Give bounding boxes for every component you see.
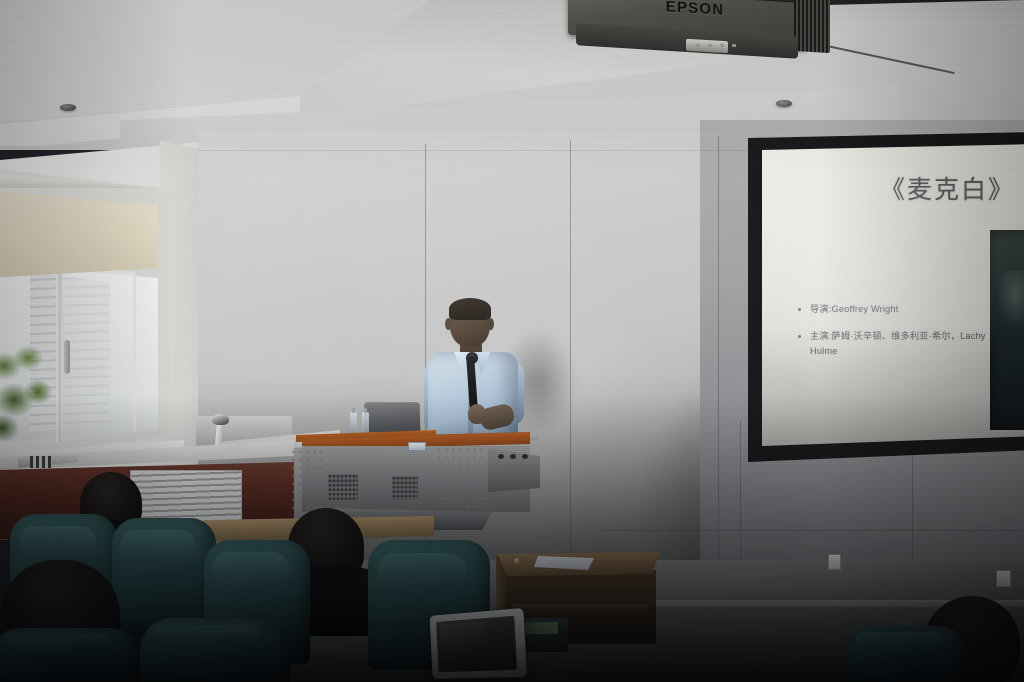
- desk-shelf: [512, 604, 648, 612]
- lectern-control-button[interactable]: [498, 454, 504, 459]
- projection-screen: 《麦克白》 导演:Geoffrey Wright 主演:萨姆·沃辛顿、维多利亚·…: [748, 132, 1024, 462]
- seat-highlight: [378, 553, 466, 587]
- lectern-laptop-screen[interactable]: [364, 402, 421, 432]
- wall-outlet-icon: [828, 554, 841, 570]
- seat-highlight: [152, 625, 260, 643]
- ceiling-light-icon: [776, 100, 792, 107]
- slide-bullet-list: 导演:Geoffrey Wright 主演:萨姆·沃辛顿、维多利亚·希尔，Lac…: [796, 302, 986, 371]
- presenter-hair: [449, 298, 491, 320]
- screen-surface: 《麦克白》 导演:Geoffrey Wright 主演:萨姆·沃辛顿、维多利亚·…: [762, 144, 1024, 446]
- seat-highlight: [19, 526, 97, 557]
- seat: [0, 628, 140, 682]
- slide-poster-image: [990, 230, 1024, 430]
- window-view-trees: [0, 344, 52, 440]
- lectern-label-tag: [408, 442, 426, 451]
- slide-bullet-cast: 主演:萨姆·沃辛顿、维多利亚·希尔，Lachy Hulme: [796, 329, 986, 358]
- seat-highlight: [2, 634, 110, 650]
- presenter-ear-right: [487, 318, 494, 330]
- window-sash[interactable]: [60, 264, 136, 440]
- foreground-laptop-screen-glare: [440, 621, 487, 665]
- ceiling-projector: EPSON: [568, 0, 826, 58]
- seat-highlight: [212, 552, 288, 584]
- foreground-laptop[interactable]: [428, 612, 536, 682]
- seat-highlight: [856, 632, 942, 648]
- seat: [846, 626, 966, 682]
- projector-led: [708, 44, 712, 47]
- lecture-hall-photo: EPSON 《麦克白》: [0, 0, 1024, 682]
- window-handle-icon[interactable]: [64, 340, 70, 374]
- lectern-speaker-grille: [328, 474, 358, 500]
- wall-panel-seam: [718, 136, 719, 566]
- window: [0, 168, 174, 468]
- seat: [140, 618, 290, 682]
- projector-led: [696, 44, 700, 47]
- slide-bullet-director: 导演:Geoffrey Wright: [796, 302, 986, 316]
- slide-title: 《麦克白》: [880, 170, 1024, 206]
- lectern-control-button[interactable]: [510, 454, 516, 459]
- water-bottle: [362, 412, 369, 434]
- projector-led: [732, 44, 736, 47]
- sill-object-small: [30, 456, 52, 468]
- seat-highlight: [120, 530, 195, 561]
- lectern-speaker-grille: [392, 476, 418, 500]
- wall-panel-seam-horizontal: [198, 150, 818, 151]
- wall-outlet-icon: [996, 570, 1011, 587]
- desk-knob-icon: [514, 558, 520, 564]
- wall-panel-seam: [740, 420, 741, 572]
- projector-led: [720, 44, 724, 47]
- lectern-control-button[interactable]: [522, 454, 528, 459]
- ceiling-light-icon: [60, 104, 76, 111]
- window-mullion: [56, 262, 61, 442]
- projector-vent-icon: [794, 0, 830, 53]
- wall-panel-seam-horizontal: [600, 530, 1024, 531]
- water-bottle: [350, 412, 357, 434]
- presenter-ear-left: [445, 318, 452, 330]
- lectern-perforated-panel: [436, 446, 490, 512]
- desk-lamp-icon: [212, 414, 229, 425]
